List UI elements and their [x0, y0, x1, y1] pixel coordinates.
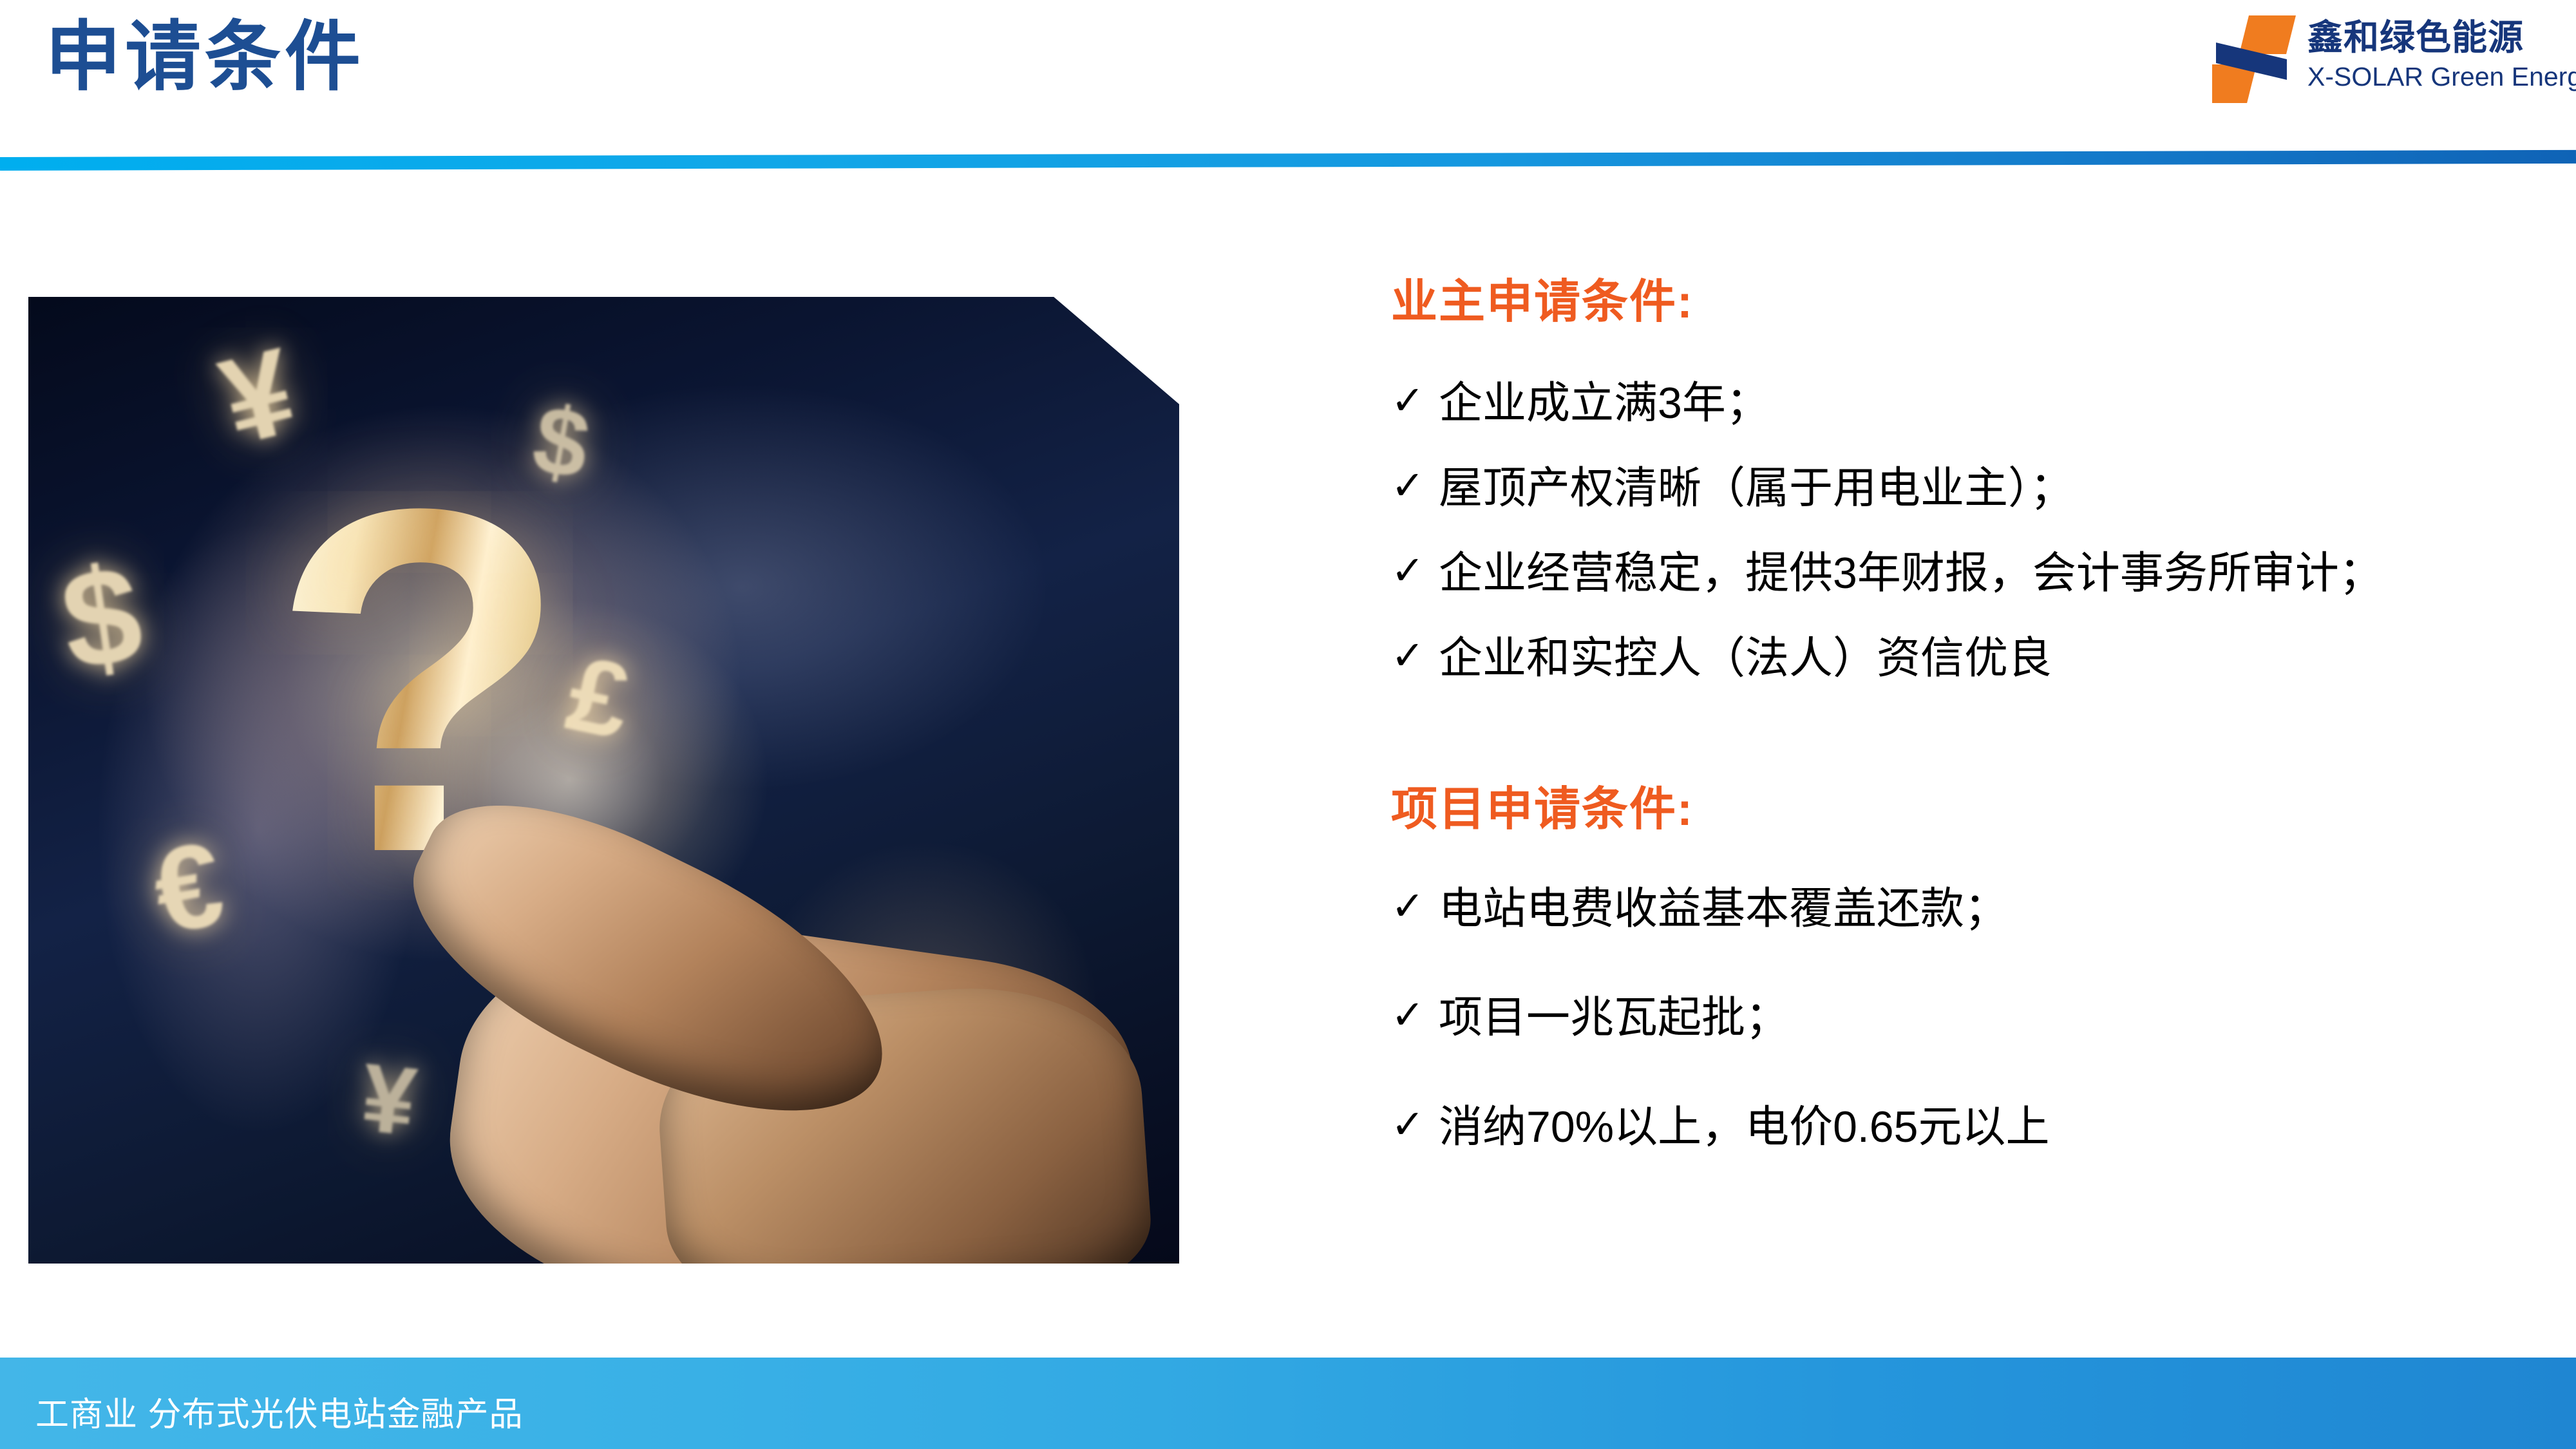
pound-symbol-icon: £: [559, 640, 639, 756]
slide-canvas: 申请条件 鑫和绿色能源 X-SOLAR Green Energy ¥ $ $ £…: [0, 0, 2576, 1449]
euro-symbol-icon: €: [145, 824, 231, 952]
check-icon: ✓: [1391, 1098, 1439, 1152]
check-icon: ✓: [1391, 459, 1439, 513]
list-item-label: 屋顶产权清晰（属于用电业主）；: [1439, 459, 2074, 518]
list-item: ✓ 屋顶产权清晰（属于用电业主）；: [1391, 459, 2537, 518]
header-divider-bar: [0, 150, 2576, 171]
check-icon: ✓: [1391, 629, 1439, 683]
conditions-content: 业主申请条件: ✓ 企业成立满3年； ✓ 屋顶产权清晰（属于用电业主）； ✓ 企…: [1391, 277, 2537, 1207]
footer-label: 工商业 分布式光伏电站金融产品: [35, 1387, 523, 1435]
list-item-label: 电站电费收益基本覆盖还款；: [1439, 880, 2008, 939]
brand-logo-text: 鑫和绿色能源 X-SOLAR Green Energy: [2307, 17, 2552, 93]
dollar-symbol-icon-left: $: [53, 544, 149, 692]
yen-symbol-icon-bottom: ¥: [357, 1048, 421, 1150]
check-icon: ✓: [1391, 374, 1439, 428]
list-item: ✓ 企业成立满3年；: [1391, 374, 2537, 433]
check-icon: ✓: [1391, 544, 1439, 598]
list-item-label: 消纳70%以上，电价0.65元以上: [1439, 1098, 2049, 1157]
project-conditions-list: ✓ 电站电费收益基本覆盖还款； ✓ 项目一兆瓦起批； ✓ 消纳70%以上，电价0…: [1391, 880, 2537, 1157]
list-item: ✓ 电站电费收益基本覆盖还款；: [1391, 880, 2537, 939]
list-item-label: 企业和实控人（法人）资信优良: [1439, 629, 2052, 688]
list-item-label: 企业经营稳定，提供3年财报，会计事务所审计；: [1439, 544, 2383, 603]
company-name-cn: 鑫和绿色能源: [2307, 17, 2552, 59]
owner-conditions-list: ✓ 企业成立满3年； ✓ 屋顶产权清晰（属于用电业主）； ✓ 企业经营稳定，提供…: [1391, 374, 2537, 688]
list-item: ✓ 企业和实控人（法人）资信优良: [1391, 629, 2537, 688]
project-conditions-heading: 项目申请条件:: [1391, 784, 2537, 835]
list-item: ✓ 企业经营稳定，提供3年财报，会计事务所审计；: [1391, 544, 2537, 603]
page-title: 申请条件: [45, 6, 365, 109]
brand-logo: 鑫和绿色能源 X-SOLAR Green Energy: [2212, 14, 2560, 104]
check-icon: ✓: [1391, 989, 1439, 1043]
list-item: ✓ 消纳70%以上，电价0.65元以上: [1391, 1098, 2537, 1157]
question-mark-photo: ¥ $ $ £ € ¥ ?: [28, 297, 1179, 1264]
list-item-label: 项目一兆瓦起批；: [1439, 989, 1789, 1048]
list-item-label: 企业成立满3年；: [1439, 374, 1770, 433]
x-solar-logo-mark-icon: [2212, 15, 2296, 103]
owner-conditions-heading: 业主申请条件:: [1391, 277, 2537, 328]
list-item: ✓ 项目一兆瓦起批；: [1391, 989, 2537, 1048]
footer-bar: 工商业 分布式光伏电站金融产品: [0, 1358, 2576, 1449]
check-icon: ✓: [1391, 880, 1439, 934]
company-name-en: X-SOLAR Green Energy: [2307, 61, 2552, 93]
